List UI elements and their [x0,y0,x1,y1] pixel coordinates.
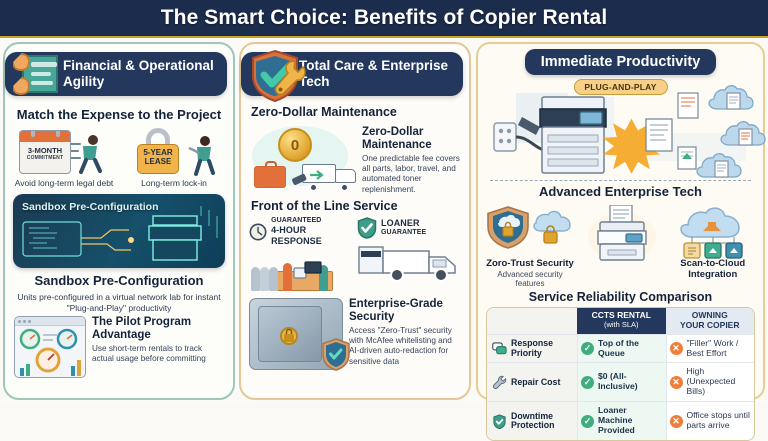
table-cell-owning-text: High (Unexpected Bills) [687,367,752,397]
table-corner-cell [487,308,577,334]
columns-container: Financial & Operational Agility Match th… [0,38,768,403]
coin-shape: 0 [278,128,312,162]
zero-dollar-block-title: Zero-Dollar Maintenance [362,126,462,152]
response-badge-block: GUARANTEED 4-HOUR RESPONSE [249,217,351,295]
enterprise-security-title: Enterprise-Grade Security [349,298,461,324]
burdened-person-icon [187,132,221,180]
table-cell-rental-text: Loaner Machine Provided [598,406,663,436]
monitor-icon [304,261,322,275]
pilot-title: The Pilot Program Advantage [92,316,224,342]
table-row-label: Response Priority [511,339,574,359]
check-icon: ✓ [581,376,594,389]
page-title: The Smart Choice: Benefits of Copier Ren… [161,6,608,30]
table-row-label-cell: Repair Cost [487,363,577,401]
shield-overlay-icon [321,338,351,372]
table-cell-owning: ✕ High (Unexpected Bills) [666,363,755,401]
expense-comparison-row: 3-MONTH COMMITMENT Avoid long-term legal… [5,126,233,188]
sandbox-title: Sandbox Pre-Configuration [5,273,233,288]
calendar-runner-icon: 3-MONTH COMMITMENT [11,126,117,178]
gauge-charts-icon [15,326,85,378]
table-cell-owning-text: Office stops until parts arrive [687,411,752,431]
table-cell-owning-text: "Filler" Work / Best Effort [687,339,752,359]
shield-icon [492,414,507,429]
feature-copier-scan [578,205,667,288]
response-badge: GUARANTEED 4-HOUR RESPONSE [249,217,351,247]
feature-zero-trust-title: Zoro-Trust Security [484,259,576,270]
copier-body [540,97,606,173]
padlock-shape: 5-YEAR LEASE [135,128,181,174]
toner-cartridge-icon [290,170,308,188]
long-term-item: 5-YEAR LEASE Long-term lock-in [121,126,227,188]
table-cell-owning: ✕ Office stops until parts arrive [666,402,755,440]
badge-5year-line2: LEASE [138,157,178,166]
chat-bubble-icon [492,341,507,356]
column-financial-agility: Financial & Operational Agility Match th… [3,42,235,400]
loaner-van-illustration [357,241,461,287]
shield-check-wrench-icon [249,48,311,104]
front-line-badges: GUARANTEED 4-HOUR RESPONSE [241,216,469,295]
table-header-rental: CCTS RENTAL (with SLA) [577,308,666,334]
loaner-badge-text: LOANER GUARANTEE [381,218,426,237]
column3-title: Immediate Productivity [525,49,717,75]
title-bar: The Smart Choice: Benefits of Copier Ren… [0,0,768,38]
table-row-label-cell: Response Priority [487,335,577,363]
sandbox-card: Sandbox Pre-Configuration [13,194,225,268]
pilot-text: The Pilot Program Advantage Use short-te… [92,316,224,364]
service-desk-illustration [249,249,351,295]
loaner-badge-block: LOANER GUARANTEE [357,217,461,295]
arrow-icon [310,168,326,182]
column3-header: Immediate Productivity [478,49,763,75]
table-cell-rental: ✓ Loaner Machine Provided [577,402,666,440]
copier-scan-shape [582,205,662,263]
table-cell-rental: ✓ $0 (All-Inclusive) [577,363,666,401]
enterprise-security-body: Access "Zero-Trust" security with McAfee… [349,326,461,367]
safe-vault-shield-icon [249,298,343,370]
shield-cloud-lock-shape [484,205,576,259]
table-row: Downtime Protection ✓ Loaner Machine Pro… [487,401,754,440]
cross-icon: ✕ [670,415,683,428]
clock-icon [249,222,267,242]
van-copier-icon [357,241,461,285]
column-immediate-productivity: Immediate Productivity PLUG-AND-PLAY [476,42,765,400]
table-row-label: Downtime Protection [511,412,574,432]
zero-dollar-section-title: Zero-Dollar Maintenance [251,105,469,119]
feature-zero-trust-subtitle: Advanced security features [484,270,576,288]
scroll-document-icon [13,48,71,100]
table-row-label: Repair Cost [511,378,560,388]
response-badge-line2: 4-HOUR RESPONSE [271,225,351,247]
tech-features-row: Zoro-Trust Security Advanced security fe… [478,203,763,288]
table-cell-rental-text: Top of the Queue [598,339,663,359]
zero-dollar-block-body: One predictable fee covers all parts, la… [362,154,462,195]
check-icon: ✓ [581,415,594,428]
cross-icon: ✕ [670,376,683,389]
plug-and-play-pill: PLUG-AND-PLAY [573,79,667,95]
table-header-owning: OWNING YOUR COPIER [666,308,755,334]
table-cell-rental-text: $0 (All-Inclusive) [598,372,663,392]
zero-dollar-text: Zero-Dollar Maintenance One predictable … [362,122,462,196]
table-header-owning-sub: YOUR COPIER [668,321,753,331]
lock-icon [282,328,296,344]
enterprise-security-text: Enterprise-Grade Security Access "Zero-T… [349,298,461,370]
table-row: Repair Cost ✓ $0 (All-Inclusive) ✕ High … [487,362,754,401]
shield-check-icon [357,217,377,239]
table-header-row: CCTS RENTAL (with SLA) OWNING YOUR COPIE… [487,308,754,334]
feature-scan-cloud: Scan-to-Cloud Integration [669,205,758,288]
table-row: Response Priority ✓ Top of the Queue ✕ "… [487,334,754,363]
column2-header: Total Care & Enterprise Tech [247,50,463,98]
running-person-icon [71,132,111,178]
enterprise-security-block: Enterprise-Grade Security Access "Zero-T… [241,295,469,370]
short-term-item: 3-MONTH COMMITMENT Avoid long-term legal… [11,126,117,188]
cloud-upload-shape [670,205,756,259]
zero-dollar-block: 0 Zero-Dollar Maintenance One pre [241,122,469,196]
check-icon: ✓ [581,342,594,355]
column-total-care: Total Care & Enterprise Tech Zero-Dollar… [239,42,471,400]
badge-5year-line1: 5-YEAR [138,148,178,157]
short-term-caption: Avoid long-term legal debt [11,178,117,188]
loaner-badge-line1: LOANER [381,218,426,229]
badge-3month-line2: COMMITMENT [20,155,70,161]
padlock-chain-icon: 5-YEAR LEASE [121,126,227,178]
coin-toolbox-truck-icon: 0 [248,122,358,196]
calendar-shape: 3-MONTH COMMITMENT [19,130,71,174]
feature-scan-cloud-title: Scan-to-Cloud Integration [669,259,758,281]
table-row-label-cell: Downtime Protection [487,402,577,440]
cloud-upload-icon [669,205,758,259]
shield-cloud-lock-icon [484,205,576,259]
loaner-badge: LOANER GUARANTEE [357,217,461,239]
copier-scan-icon [578,205,667,259]
table-header-rental-sub: (with SLA) [579,321,664,330]
hero-divider [490,180,751,181]
infographic-poster: The Smart Choice: Benefits of Copier Ren… [0,0,768,403]
sandbox-body: Units pre-configured in a virtual networ… [5,292,233,313]
sandbox-card-label: Sandbox Pre-Configuration [22,202,159,214]
badge-3month-line1: 3-MONTH [20,146,70,155]
comparison-title: Service Reliability Comparison [478,290,763,304]
comparison-table: CCTS RENTAL (with SLA) OWNING YOUR COPIE… [486,307,755,441]
response-badge-line1: GUARANTEED [271,217,351,225]
cross-icon: ✕ [670,342,683,355]
wrench-icon [492,375,507,390]
front-line-title: Front of the Line Service [251,199,469,213]
feature-zero-trust: Zoro-Trust Security Advanced security fe… [484,205,576,288]
table-cell-rental: ✓ Top of the Queue [577,335,666,363]
table-cell-owning: ✕ "Filler" Work / Best Effort [666,335,755,363]
pilot-body: Use short-term rentals to track actual u… [92,344,224,365]
toolbox-shape [254,166,286,188]
match-expense-title: Match the Expense to the Project [5,107,233,122]
loaner-badge-line2: GUARANTEE [381,229,426,237]
hero-illustration: PLUG-AND-PLAY [486,77,755,181]
column1-header: Financial & Operational Agility [11,50,227,98]
advanced-tech-title: Advanced Enterprise Tech [478,184,763,199]
response-badge-text: GUARANTEED 4-HOUR RESPONSE [271,217,351,247]
pilot-program-block: The Pilot Program Advantage Use short-te… [5,313,233,378]
dashboard-analytics-icon [14,316,86,378]
